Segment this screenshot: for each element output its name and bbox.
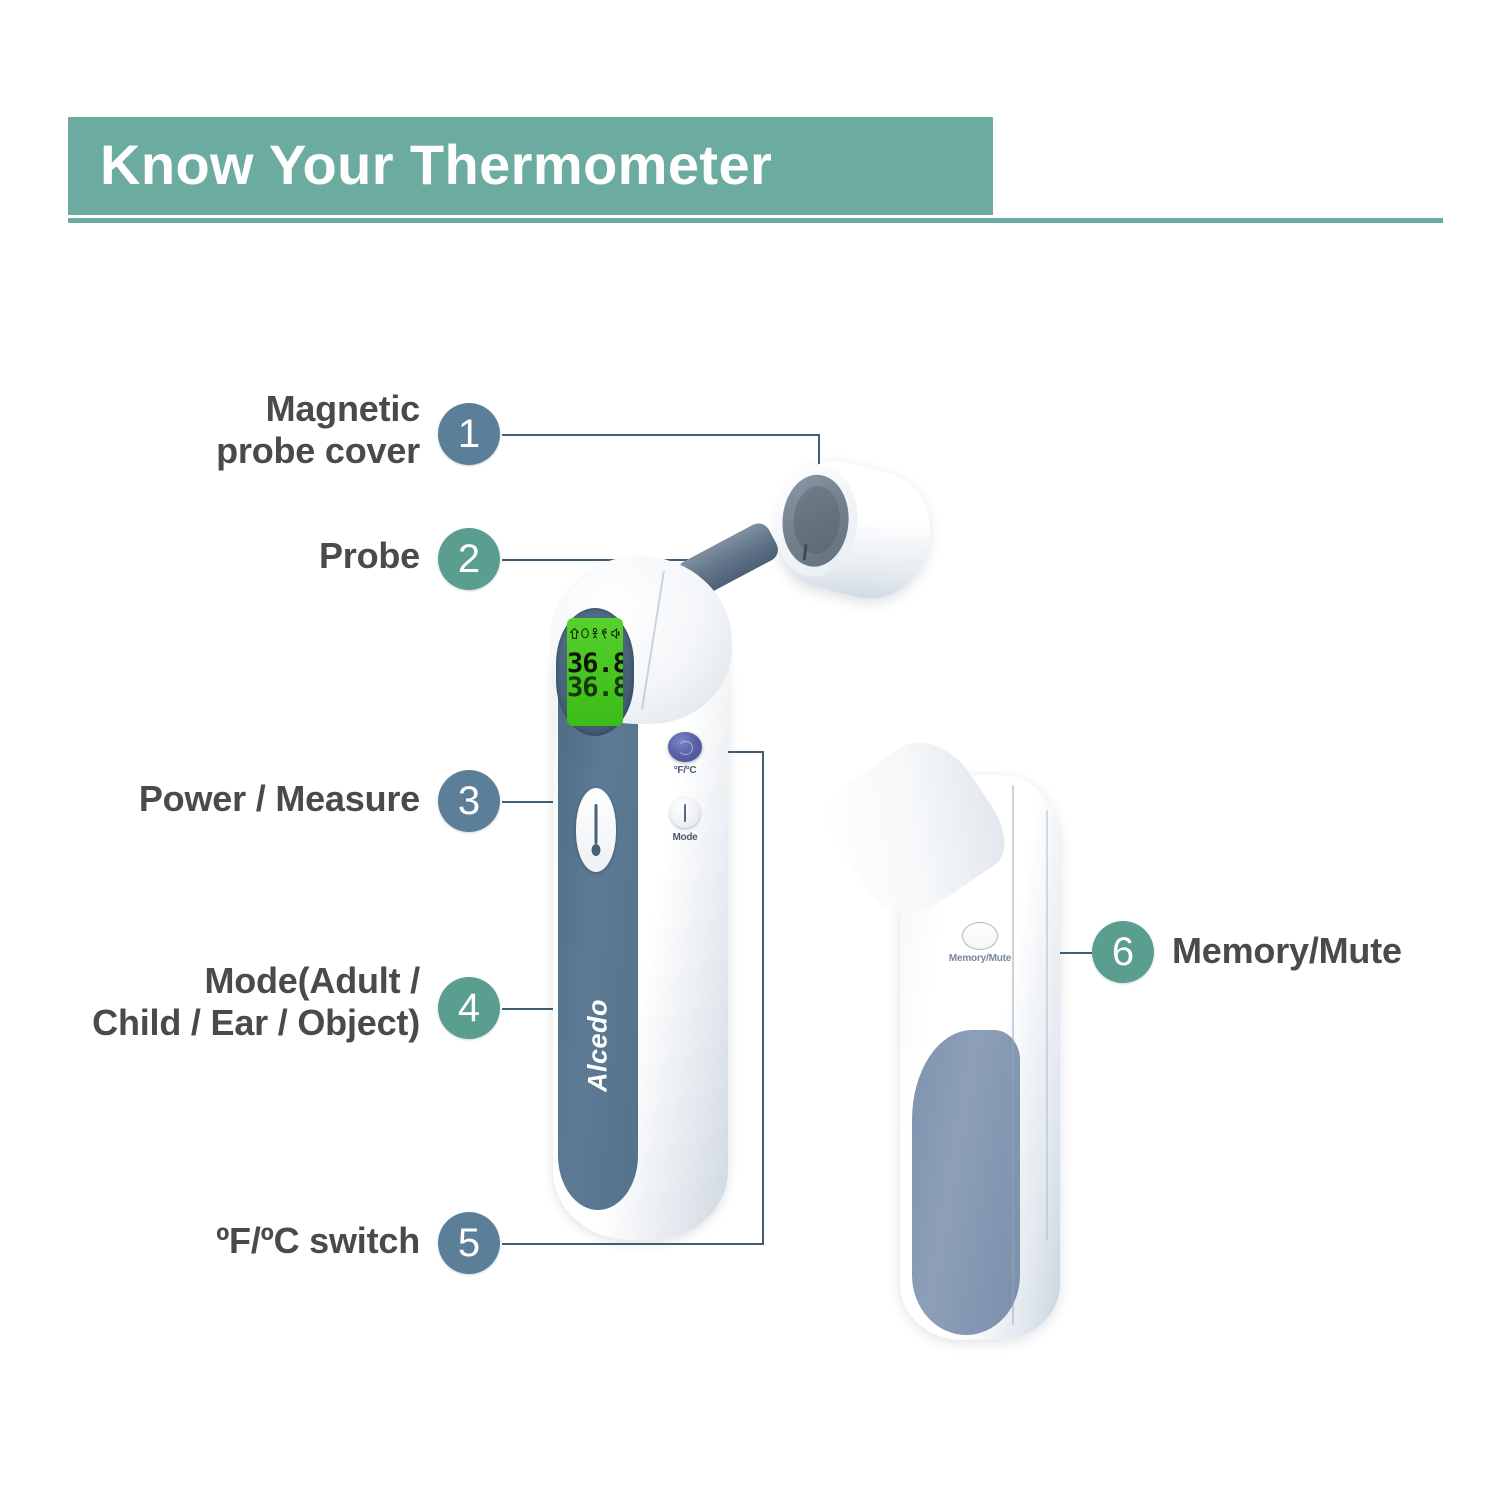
mute-speaker-icon — [611, 628, 620, 639]
page-title: Know Your Thermometer — [100, 137, 772, 193]
memory-mute-label: Memory/Mute — [938, 953, 1022, 964]
callout-label-5: ºF/ºC switch — [110, 1220, 420, 1262]
callout-label-1: Magnetic probe cover — [140, 388, 420, 473]
mode-indicator-icon — [684, 804, 686, 822]
callout-label-3: Power / Measure — [60, 778, 420, 820]
callout-badge-3[interactable]: 3 — [438, 770, 500, 832]
child-baby-icon — [591, 628, 599, 639]
thermometer-rear-view: Memory/Mute — [860, 690, 1160, 1350]
callout-label-4: Mode(Adult / Child / Ear / Object) — [20, 960, 420, 1045]
header-banner-box: Know Your Thermometer — [68, 117, 993, 215]
callout-badge-4[interactable]: 4 — [438, 977, 500, 1039]
rear-seam-line — [1012, 785, 1014, 1325]
callout-label-6: Memory/Mute — [1172, 930, 1500, 972]
memory-mute-button[interactable] — [962, 922, 998, 950]
switch-swirl-icon — [678, 741, 693, 755]
callout-badge-3-number: 3 — [458, 781, 480, 821]
brand-logo: Alcedo — [583, 986, 614, 1106]
adult-face-icon — [581, 628, 589, 639]
callout-label-2: Probe — [140, 535, 420, 577]
rear-grip-panel — [912, 1030, 1020, 1335]
lcd-ghost-segments: 36.8 — [567, 674, 623, 701]
lcd-mode-icon-row — [570, 624, 620, 642]
callout-badge-1-number: 1 — [458, 414, 480, 454]
callout-badge-5[interactable]: 5 — [438, 1212, 500, 1274]
fahrenheit-celsius-switch[interactable] — [668, 732, 702, 762]
rear-edge-line — [1046, 810, 1048, 1240]
lcd-display: 36.8°C 36.8 — [567, 618, 623, 726]
mode-button[interactable] — [670, 798, 700, 828]
power-measure-button[interactable] — [576, 788, 616, 872]
thermometer-front-view: 36.8°C 36.8 °F/°C Mode Alcedo — [520, 540, 820, 1240]
header-underline — [68, 218, 1443, 223]
callout-badge-2[interactable]: 2 — [438, 528, 500, 590]
callout-badge-4-number: 4 — [458, 988, 480, 1028]
fc-switch-label: °F/°C — [663, 765, 707, 776]
ear-icon — [601, 628, 609, 639]
callout-badge-1[interactable]: 1 — [438, 403, 500, 465]
callout-badge-2-number: 2 — [458, 539, 480, 579]
thermometer-icon — [593, 804, 600, 856]
leader-line-5-horizontal — [502, 1243, 764, 1245]
callout-badge-5-number: 5 — [458, 1223, 480, 1263]
mode-button-label: Mode — [662, 832, 708, 843]
object-house-icon — [570, 628, 579, 639]
header-banner: Know Your Thermometer — [68, 117, 1443, 237]
poster-canvas: Know Your Thermometer Magnetic probe cov… — [0, 0, 1500, 1500]
